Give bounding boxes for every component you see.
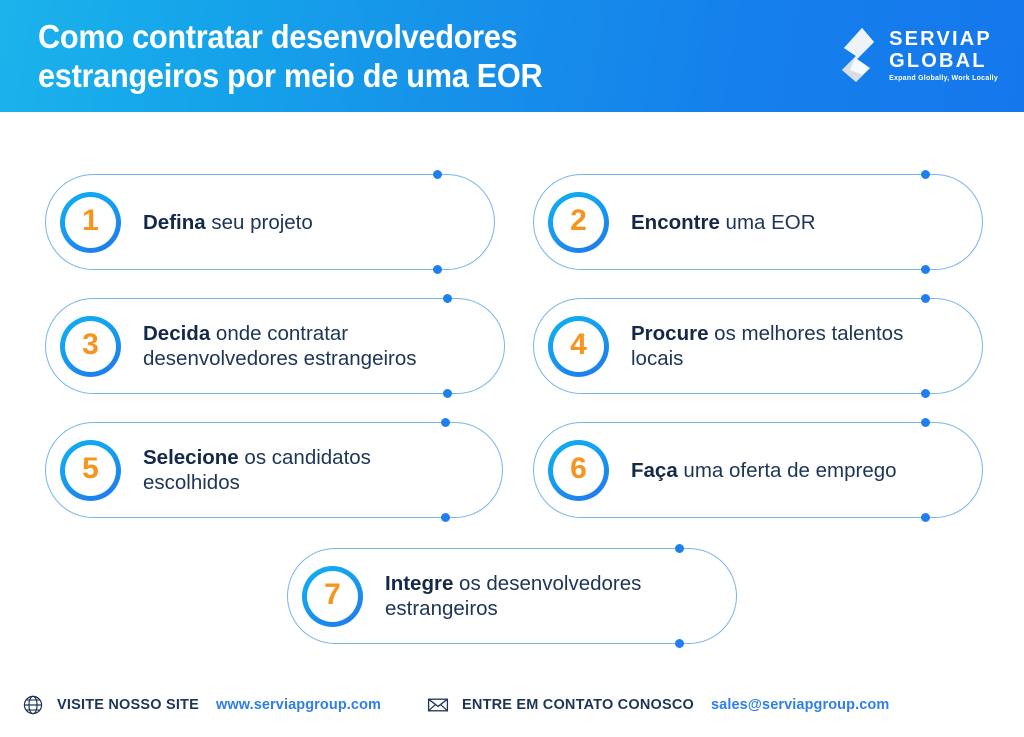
step-item-7[interactable]: 7 Integre os desenvolvedores estrangeiro…	[287, 548, 737, 644]
step-item-1[interactable]: 1 Defina seu projeto	[45, 174, 495, 270]
step-number: 2	[570, 206, 587, 236]
steps-list: 1 Defina seu projeto 2 Encontre uma EOR …	[0, 112, 1024, 672]
footer-website-link[interactable]: www.serviapgroup.com	[216, 697, 381, 713]
footer-website-label: VISITE NOSSO SITE	[57, 697, 199, 713]
connector-dot-top	[441, 418, 450, 427]
step-number-badge: 5	[60, 440, 121, 501]
footer-email-group: ENTRE EM CONTATO CONOSCO sales@serviapgr…	[427, 694, 889, 716]
connector-dot-bottom	[675, 639, 684, 648]
globe-icon	[22, 694, 44, 716]
step-number: 3	[82, 330, 99, 360]
step-item-5[interactable]: 5 Selecione os candidatos escolhidos	[45, 422, 503, 518]
step-number-badge: 6	[548, 440, 609, 501]
connector-dot-top	[921, 294, 930, 303]
connector-dot-top	[921, 418, 930, 427]
step-number-badge: 7	[302, 566, 363, 627]
step-rest-text: uma EOR	[720, 211, 816, 234]
step-lead-word: Decida	[143, 322, 210, 345]
logo-tagline: Expand Globally, Work Locally	[889, 75, 998, 82]
step-item-3[interactable]: 3 Decida onde contratar desenvolvedores …	[45, 298, 505, 394]
logo-line-1: SERVIAP	[889, 29, 992, 49]
connector-dot-bottom	[433, 265, 442, 274]
step-text: Faça uma oferta de emprego	[631, 458, 897, 483]
step-lead-word: Selecione	[143, 446, 239, 469]
envelope-icon	[427, 694, 449, 716]
step-number: 4	[570, 330, 587, 360]
page-header: Como contratar desenvolvedores estrangei…	[0, 0, 1024, 112]
connector-dot-bottom	[921, 513, 930, 522]
step-text: Selecione os candidatos escolhidos	[143, 445, 473, 495]
step-lead-word: Defina	[143, 211, 206, 234]
step-number: 6	[570, 454, 587, 484]
serviap-flame-icon	[836, 26, 880, 84]
step-item-6[interactable]: 6 Faça uma oferta de emprego	[533, 422, 983, 518]
connector-dot-top	[433, 170, 442, 179]
brand-logo: SERVIAP GLOBAL Expand Globally, Work Loc…	[836, 26, 998, 84]
page-title: Como contratar desenvolvedores estrangei…	[38, 17, 689, 95]
step-number: 1	[82, 206, 99, 236]
step-item-2[interactable]: 2 Encontre uma EOR	[533, 174, 983, 270]
step-number: 7	[324, 580, 341, 610]
step-text: Defina seu projeto	[143, 210, 313, 235]
step-lead-word: Encontre	[631, 211, 720, 234]
connector-dot-top	[443, 294, 452, 303]
connector-dot-bottom	[443, 389, 452, 398]
step-text: Encontre uma EOR	[631, 210, 816, 235]
step-lead-word: Integre	[385, 572, 453, 595]
footer-email-label: ENTRE EM CONTATO CONOSCO	[462, 697, 694, 713]
step-text: Integre os desenvolvedores estrangeiros	[385, 571, 715, 621]
step-rest-text: seu projeto	[206, 211, 313, 234]
step-item-4[interactable]: 4 Procure os melhores talentos locais	[533, 298, 983, 394]
connector-dot-top	[921, 170, 930, 179]
footer-email-link[interactable]: sales@serviapgroup.com	[711, 697, 889, 713]
footer-website-group: VISITE NOSSO SITE www.serviapgroup.com	[22, 694, 381, 716]
step-lead-word: Faça	[631, 459, 678, 482]
step-number-badge: 1	[60, 192, 121, 253]
step-number-badge: 3	[60, 316, 121, 377]
step-lead-word: Procure	[631, 322, 708, 345]
step-text: Procure os melhores talentos locais	[631, 321, 961, 371]
page-footer: VISITE NOSSO SITE www.serviapgroup.com E…	[0, 672, 1024, 737]
step-number: 5	[82, 454, 99, 484]
step-rest-text: uma oferta de emprego	[678, 459, 897, 482]
connector-dot-bottom	[441, 513, 450, 522]
step-text: Decida onde contratar desenvolvedores es…	[143, 321, 473, 371]
connector-dot-bottom	[921, 389, 930, 398]
logo-line-2: GLOBAL	[889, 51, 987, 71]
connector-dot-bottom	[921, 265, 930, 274]
step-number-badge: 2	[548, 192, 609, 253]
step-number-badge: 4	[548, 316, 609, 377]
connector-dot-top	[675, 544, 684, 553]
